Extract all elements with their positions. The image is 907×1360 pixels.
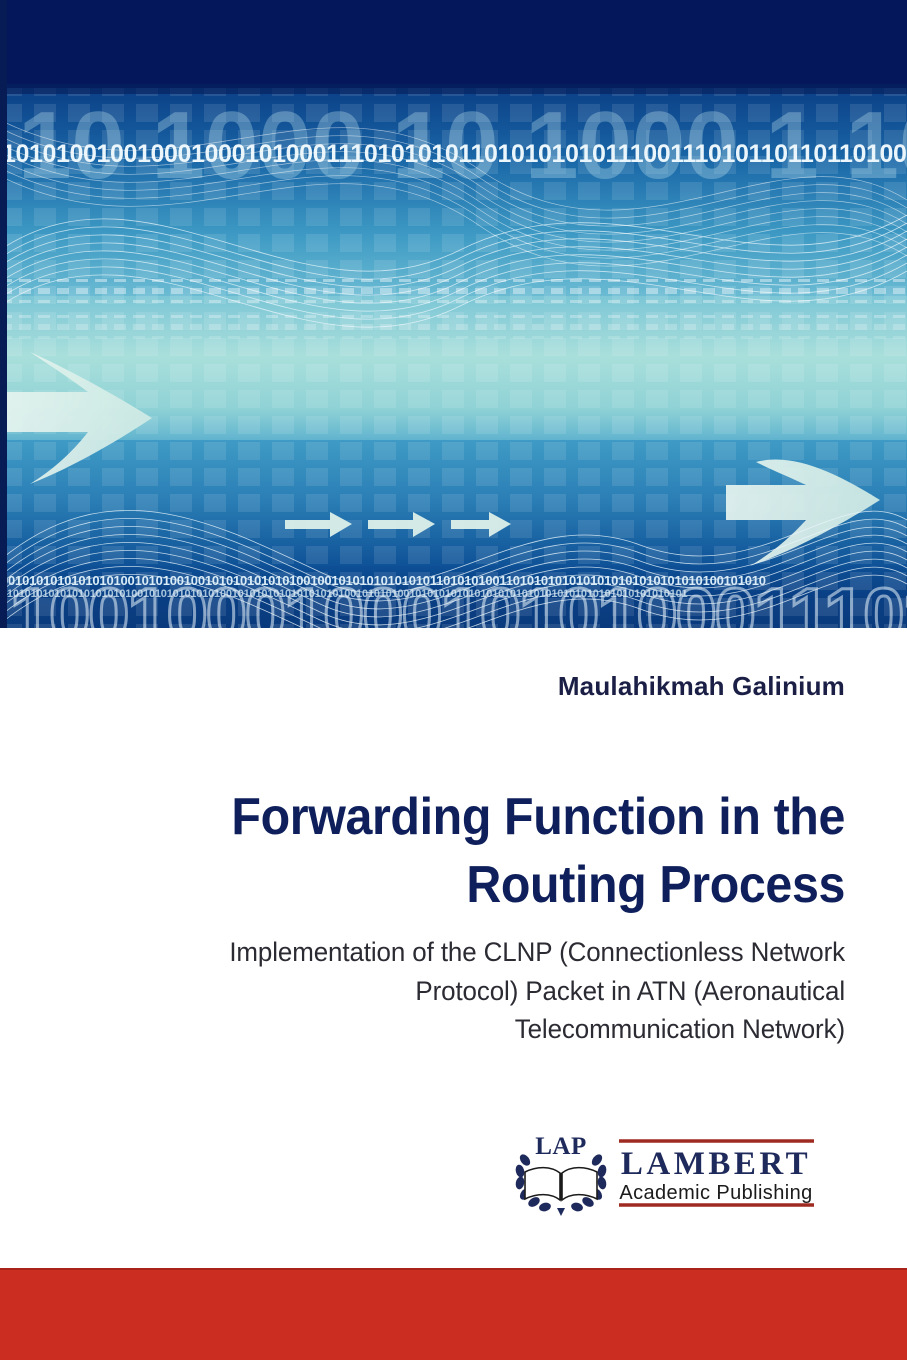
publisher-name: LAMBERT (621, 1146, 811, 1182)
lambert-wordmark: LAMBERT Academic Publishing (619, 1141, 814, 1205)
title-line-1: Forwarding Function in the (231, 788, 845, 846)
artwork-illustration: 10 1000 10 1000 1 10 1010100100100010001… (0, 0, 907, 628)
cover-artwork: 10 1000 10 1000 1 10 1010100100100010001… (0, 0, 907, 628)
subtitle-line-1: Implementation of the CLNP (Connectionle… (229, 937, 845, 967)
bottom-red-band (0, 1268, 907, 1360)
author-name: Maulahikmah Galinium (62, 628, 845, 702)
svg-text:100100010001010100011101010101: 1001000100010101000111010101011 (10, 573, 907, 628)
subtitle-line-2: Protocol) Packet in ATN (Aeronautical (415, 976, 845, 1006)
subtitle-line-3: Telecommunication Network) (515, 1014, 845, 1044)
title-line-2: Routing Process (466, 856, 845, 914)
book-cover: 10 1000 10 1000 1 10 1010100100100010001… (0, 0, 907, 1360)
lap-mark-text: LAP (535, 1133, 587, 1160)
book-subtitle: Implementation of the CLNP (Connectionle… (93, 919, 845, 1048)
publisher-logo: LAP LAMBERT Academic Publishing (511, 1128, 819, 1218)
lap-emblem-icon: LAP (514, 1133, 607, 1216)
svg-text:101010010010001000101000111010: 1010100100100010001010001110101010110101… (2, 140, 907, 168)
book-title: Forwarding Function in the Routing Proce… (117, 702, 845, 919)
spine-stripe (0, 0, 7, 628)
lambert-academic-publishing-logo: LAP LAMBERT Academic Publishing (511, 1128, 819, 1218)
publisher-tagline: Academic Publishing (619, 1182, 812, 1204)
